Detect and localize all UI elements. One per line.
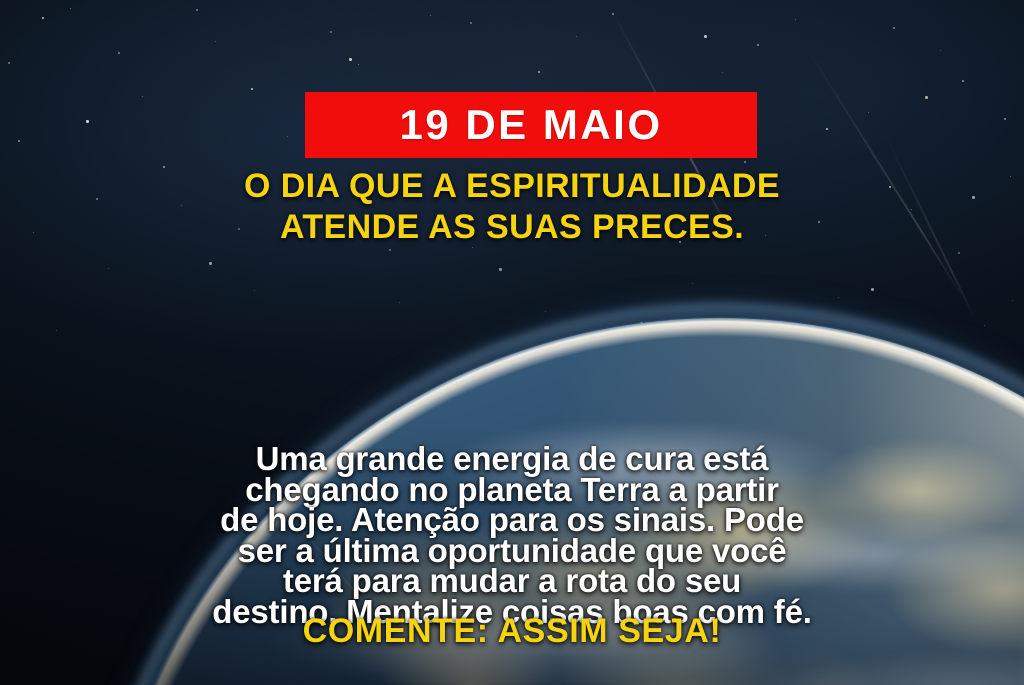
poster-content: 19 DE MAIO O DIA QUE A ESPIRITUALIDADE A…	[0, 0, 1024, 685]
body-line-3: de hoje. Atenção para os sinais. Pode	[56, 505, 968, 536]
body-line-1: Uma grande energia de cura está	[56, 444, 968, 475]
date-banner: 19 DE MAIO	[305, 92, 757, 158]
headline-line-1: O DIA QUE A ESPIRITUALIDADE	[48, 166, 976, 207]
body-line-5: terá para mudar a rota do seu	[56, 566, 968, 597]
headline-line-2: ATENDE AS SUAS PRECES.	[48, 207, 976, 248]
call-to-action-label: COMENTE: ASSIM SEJA!	[303, 612, 722, 650]
headline: O DIA QUE A ESPIRITUALIDADE ATENDE AS SU…	[0, 166, 1024, 248]
inspirational-poster: 19 DE MAIO O DIA QUE A ESPIRITUALIDADE A…	[0, 0, 1024, 685]
call-to-action: COMENTE: ASSIM SEJA!	[0, 611, 1024, 651]
date-banner-label: 19 DE MAIO	[399, 104, 662, 146]
body-paragraph: Uma grande energia de cura está chegando…	[0, 444, 1024, 627]
